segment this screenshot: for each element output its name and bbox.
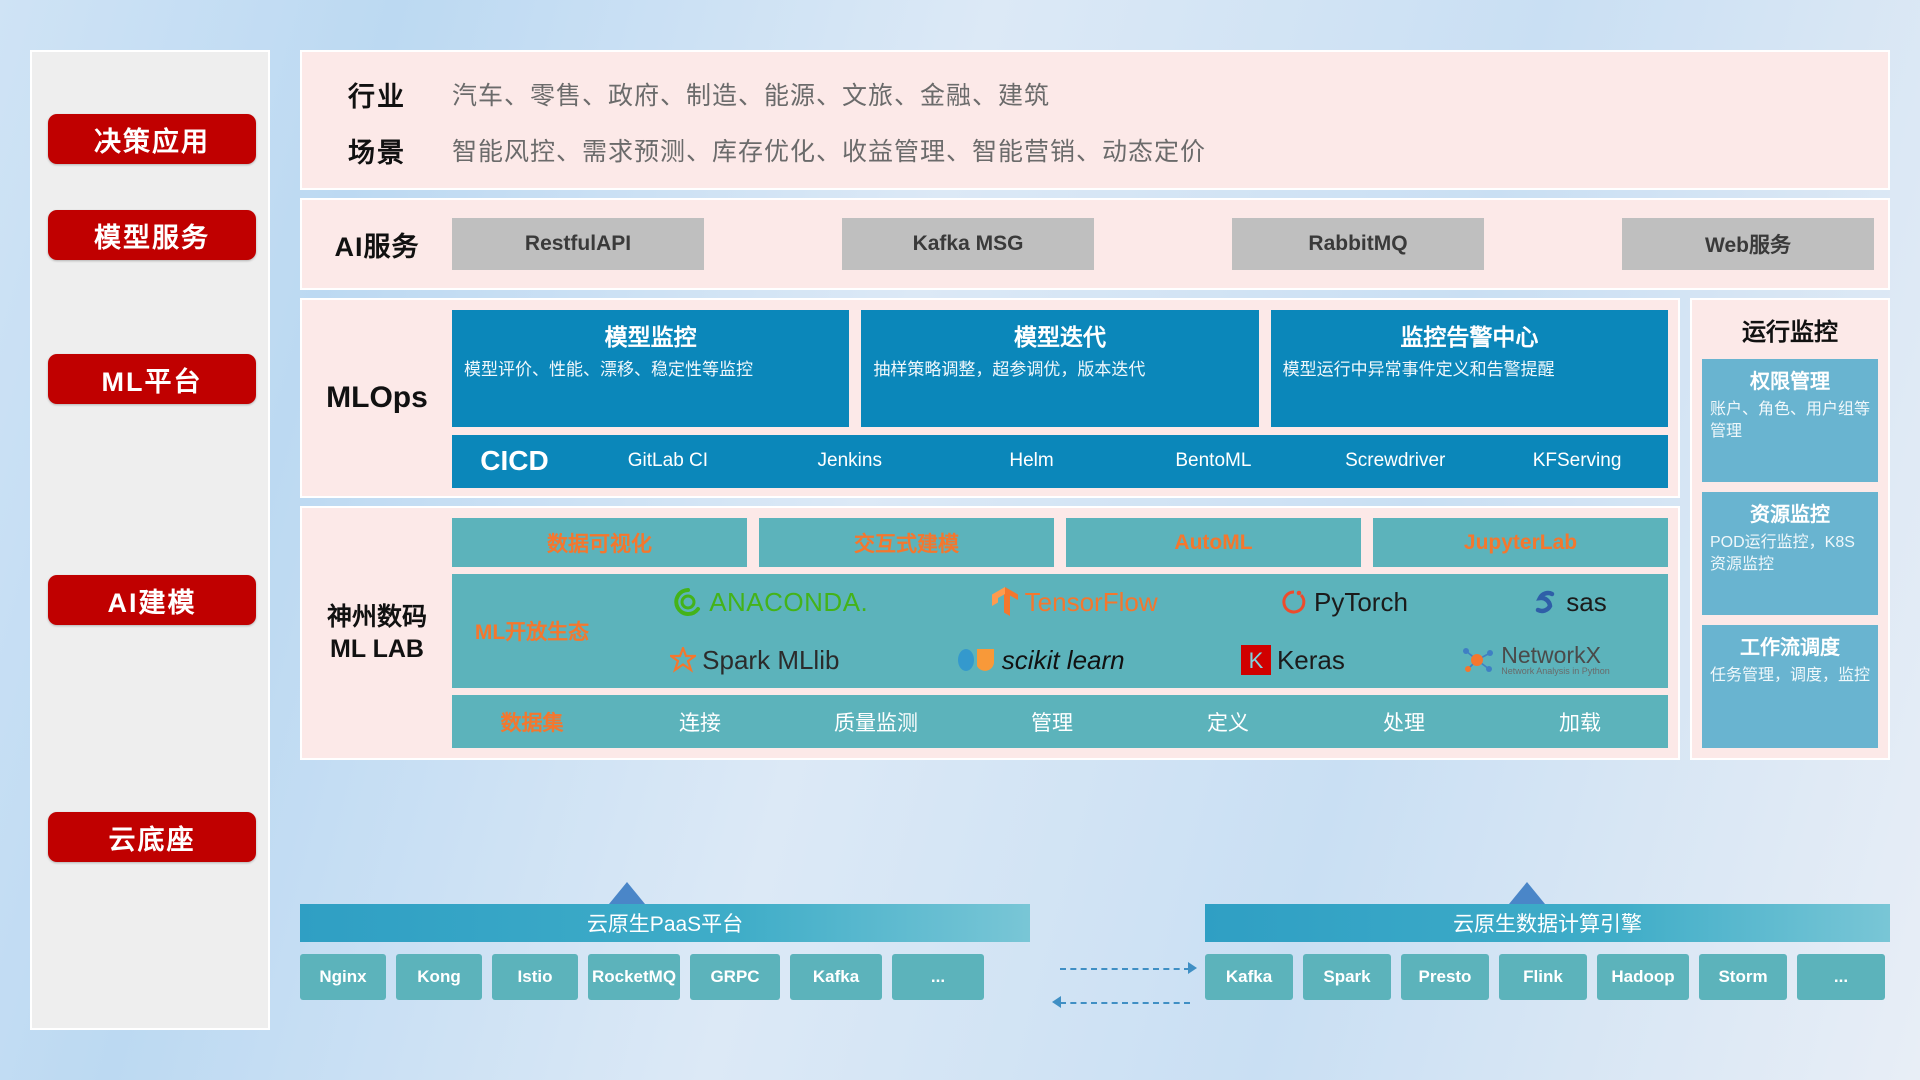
tensorflow-icon [991, 586, 1019, 618]
cicd-item-kfserving[interactable]: KFServing [1486, 450, 1668, 472]
card-title: 资源监控 [1710, 498, 1870, 527]
lab-tool-jupyterlab[interactable]: JupyterLab [1373, 518, 1668, 567]
card-desc: 任务管理，调度，监控 [1710, 665, 1870, 687]
industry-row: 行业 汽车、零售、政府、制造、能源、文旅、金融、建筑 [302, 66, 1888, 122]
rail-item-label: 决策应用 [94, 120, 210, 159]
rail-item-ai-modeling[interactable]: AI建模 [48, 575, 256, 625]
lab-tool-interactive-modeling[interactable]: 交互式建模 [759, 518, 1054, 567]
cloud-chip-kafka-engine[interactable]: Kafka [1205, 954, 1293, 1000]
service-chip-kafka-msg[interactable]: Kafka MSG [842, 218, 1094, 270]
keras-icon: K [1241, 645, 1271, 675]
pytorch-logo: PyTorch [1280, 587, 1408, 618]
scenario-label: 场景 [302, 131, 452, 170]
service-chip-rabbitmq[interactable]: RabbitMQ [1232, 218, 1484, 270]
cicd-bar: CICD GitLab CI Jenkins Helm BentoML Scre… [452, 435, 1668, 488]
cloud-chip-storm[interactable]: Storm [1699, 954, 1787, 1000]
runtime-monitoring-panel: 运行监控 权限管理 账户、角色、用户组等管理 资源监控 POD运行监控，K8S资… [1690, 298, 1890, 760]
anaconda-wordmark: ANACONDA. [709, 587, 868, 618]
sas-wordmark: sas [1566, 587, 1606, 618]
rail-item-label: 云底座 [109, 818, 196, 857]
cloud-chip-kong[interactable]: Kong [396, 954, 482, 1000]
ecosystem-logo-row-1: ANACONDA. TensorFlow [612, 574, 1668, 630]
dataset-item-connect[interactable]: 连接 [612, 707, 788, 737]
card-title: 模型迭代 [873, 318, 1246, 352]
pytorch-wordmark: PyTorch [1314, 587, 1408, 618]
service-chip-restfulapi[interactable]: RestfulAPI [452, 218, 704, 270]
lab-tool-automl[interactable]: AutoML [1066, 518, 1361, 567]
ml-lab-content: 数据可视化 交互式建模 AutoML JupyterLab ML开放生态 [452, 508, 1678, 758]
scenario-row: 场景 智能风控、需求预测、库存优化、收益管理、智能营销、动态定价 [302, 122, 1888, 178]
ecosystem-logo-row-2: Spark MLlib scikit learn [612, 632, 1668, 688]
networkx-icon [1461, 645, 1495, 675]
cicd-item-screwdriver[interactable]: Screwdriver [1304, 450, 1486, 472]
cloud-chip-more-engine[interactable]: ... [1797, 954, 1885, 1000]
dataset-item-process[interactable]: 处理 [1316, 707, 1492, 737]
spark-mllib-logo: Spark MLlib [670, 645, 839, 676]
card-title: 模型监控 [464, 318, 837, 352]
dataset-label: 数据集 [452, 707, 612, 737]
ml-lab-label-line2: ML LAB [330, 633, 424, 665]
mlops-label: MLOps [302, 300, 452, 496]
spark-star-icon [670, 647, 696, 673]
spark-mllib-wordmark: Spark MLlib [702, 645, 839, 676]
cloud-chip-presto[interactable]: Presto [1401, 954, 1489, 1000]
scikit-learn-logo: scikit learn [956, 645, 1125, 676]
card-desc: 账户、角色、用户组等管理 [1710, 399, 1870, 442]
rail-item-model-service[interactable]: 模型服务 [48, 210, 256, 260]
ai-service-chip-group: RestfulAPI Kafka MSG RabbitMQ Web服务 [452, 218, 1888, 270]
tensorflow-wordmark: TensorFlow [1025, 587, 1158, 618]
cicd-item-gitlab-ci[interactable]: GitLab CI [577, 450, 759, 472]
mlops-card-group: 模型监控 模型评价、性能、漂移、稳定性等监控 模型迭代 抽样策略调整，超参调优，… [452, 310, 1668, 427]
card-title: 监控告警中心 [1283, 318, 1656, 352]
ml-lab-label-line1: 神州数码 [327, 601, 427, 633]
rail-item-ml-platform[interactable]: ML平台 [48, 354, 256, 404]
anaconda-logo: ANACONDA. [673, 587, 868, 618]
scenario-values: 智能风控、需求预测、库存优化、收益管理、智能营销、动态定价 [452, 132, 1206, 168]
cloud-paas-group: 云原生PaaS平台 Nginx Kong Istio RocketMQ GRPC… [300, 904, 1030, 1000]
industry-values: 汽车、零售、政府、制造、能源、文旅、金融、建筑 [452, 76, 1050, 112]
card-desc: 抽样策略调整，超参调优，版本迭代 [873, 359, 1246, 382]
cloud-engine-group: 云原生数据计算引擎 Kafka Spark Presto Flink Hadoo… [1205, 904, 1890, 1000]
mlops-card-alert-center[interactable]: 监控告警中心 模型运行中异常事件定义和告警提醒 [1271, 310, 1668, 427]
networkx-tagline: Network Analysis in Python [1501, 667, 1610, 676]
scikit-learn-icon [956, 645, 996, 675]
cicd-item-group: GitLab CI Jenkins Helm BentoML Screwdriv… [577, 450, 1668, 472]
monitor-card-permission[interactable]: 权限管理 账户、角色、用户组等管理 [1702, 359, 1878, 482]
ai-service-label: AI服务 [302, 225, 452, 264]
dataset-item-define[interactable]: 定义 [1140, 707, 1316, 737]
industry-label: 行业 [302, 75, 452, 114]
card-desc: POD运行监控，K8S资源监控 [1710, 532, 1870, 575]
sas-icon [1530, 587, 1560, 617]
monitor-card-resource[interactable]: 资源监控 POD运行监控，K8S资源监控 [1702, 492, 1878, 615]
rail-item-label: AI建模 [108, 581, 197, 620]
cloud-chip-nginx[interactable]: Nginx [300, 954, 386, 1000]
card-title: 权限管理 [1710, 365, 1870, 394]
monitor-card-workflow[interactable]: 工作流调度 任务管理，调度，监控 [1702, 625, 1878, 748]
svg-text:K: K [1249, 648, 1264, 673]
cicd-item-helm[interactable]: Helm [941, 450, 1123, 472]
anaconda-icon [673, 587, 703, 617]
dataset-item-manage[interactable]: 管理 [964, 707, 1140, 737]
cloud-chip-grpc[interactable]: GRPC [690, 954, 780, 1000]
cloud-engine-chip-group: Kafka Spark Presto Flink Hadoop Storm ..… [1205, 954, 1890, 1000]
tensorflow-logo: TensorFlow [991, 586, 1158, 618]
card-title: 工作流调度 [1710, 631, 1870, 660]
rail-item-decision-apps[interactable]: 决策应用 [48, 114, 256, 164]
dataset-bar: 数据集 连接 质量监测 管理 定义 处理 加载 [452, 695, 1668, 748]
cloud-paas-chip-group: Nginx Kong Istio RocketMQ GRPC Kafka ... [300, 954, 1030, 1000]
mlops-content: 模型监控 模型评价、性能、漂移、稳定性等监控 模型迭代 抽样策略调整，超参调优，… [452, 300, 1678, 496]
cloud-chip-more[interactable]: ... [892, 954, 984, 1000]
cloud-engine-header: 云原生数据计算引擎 [1205, 904, 1890, 942]
ecosystem-logo-grid: ANACONDA. TensorFlow [612, 574, 1668, 688]
cloud-foundation-band: 云原生PaaS平台 Nginx Kong Istio RocketMQ GRPC… [300, 880, 1890, 1030]
rail-item-cloud-base[interactable]: 云底座 [48, 812, 256, 862]
networkx-logo: NetworkX Network Analysis in Python [1461, 643, 1610, 677]
rail-item-label: ML平台 [102, 360, 203, 399]
ai-modeling-band: 神州数码 ML LAB 数据可视化 交互式建模 AutoML JupyterLa… [300, 506, 1680, 760]
ml-open-ecosystem: ML开放生态 ANACONDA. [452, 574, 1668, 688]
architecture-diagram: 决策应用 模型服务 ML平台 AI建模 云底座 行业 汽车、零售、政府、制造、能… [0, 0, 1920, 1080]
ml-open-ecosystem-label: ML开放生态 [452, 616, 612, 646]
service-chip-web-service[interactable]: Web服务 [1622, 218, 1874, 270]
dataset-item-load[interactable]: 加载 [1492, 707, 1668, 737]
sas-logo: sas [1530, 587, 1606, 618]
cicd-item-jenkins[interactable]: Jenkins [759, 450, 941, 472]
decision-apps-band: 行业 汽车、零售、政府、制造、能源、文旅、金融、建筑 场景 智能风控、需求预测、… [300, 50, 1890, 190]
cloud-chip-kafka[interactable]: Kafka [790, 954, 882, 1000]
mlops-band: MLOps 模型监控 模型评价、性能、漂移、稳定性等监控 模型迭代 抽样策略调整… [300, 298, 1680, 498]
cloud-chip-flink[interactable]: Flink [1499, 954, 1587, 1000]
lab-tool-group: 数据可视化 交互式建模 AutoML JupyterLab [452, 518, 1668, 567]
cloud-chip-hadoop[interactable]: Hadoop [1597, 954, 1689, 1000]
cloud-chip-spark[interactable]: Spark [1303, 954, 1391, 1000]
keras-logo: K Keras [1241, 645, 1345, 676]
card-desc: 模型运行中异常事件定义和告警提醒 [1283, 359, 1656, 382]
scikit-learn-wordmark: scikit learn [1002, 645, 1125, 676]
cloud-paas-header: 云原生PaaS平台 [300, 904, 1030, 942]
mlops-card-model-iteration[interactable]: 模型迭代 抽样策略调整，超参调优，版本迭代 [861, 310, 1258, 427]
cloud-chip-istio[interactable]: Istio [492, 954, 578, 1000]
runtime-monitoring-title: 运行监控 [1702, 308, 1878, 349]
mlops-card-model-monitor[interactable]: 模型监控 模型评价、性能、漂移、稳定性等监控 [452, 310, 849, 427]
cicd-item-bentoml[interactable]: BentoML [1122, 450, 1304, 472]
cicd-label: CICD [452, 445, 577, 477]
dataset-item-group: 连接 质量监测 管理 定义 处理 加载 [612, 707, 1668, 737]
cloud-chip-rocketmq[interactable]: RocketMQ [588, 954, 680, 1000]
networkx-wordmark: NetworkX [1501, 643, 1610, 667]
lab-tool-data-visualization[interactable]: 数据可视化 [452, 518, 747, 567]
rail-item-label: 模型服务 [94, 216, 210, 255]
dataset-item-quality[interactable]: 质量监测 [788, 707, 964, 737]
ml-lab-label: 神州数码 ML LAB [302, 508, 452, 758]
pytorch-icon [1280, 587, 1308, 617]
card-desc: 模型评价、性能、漂移、稳定性等监控 [464, 359, 837, 382]
keras-wordmark: Keras [1277, 645, 1345, 676]
layer-rail: 决策应用 模型服务 ML平台 AI建模 云底座 [30, 50, 270, 1030]
ai-service-band: AI服务 RestfulAPI Kafka MSG RabbitMQ Web服务 [300, 198, 1890, 290]
